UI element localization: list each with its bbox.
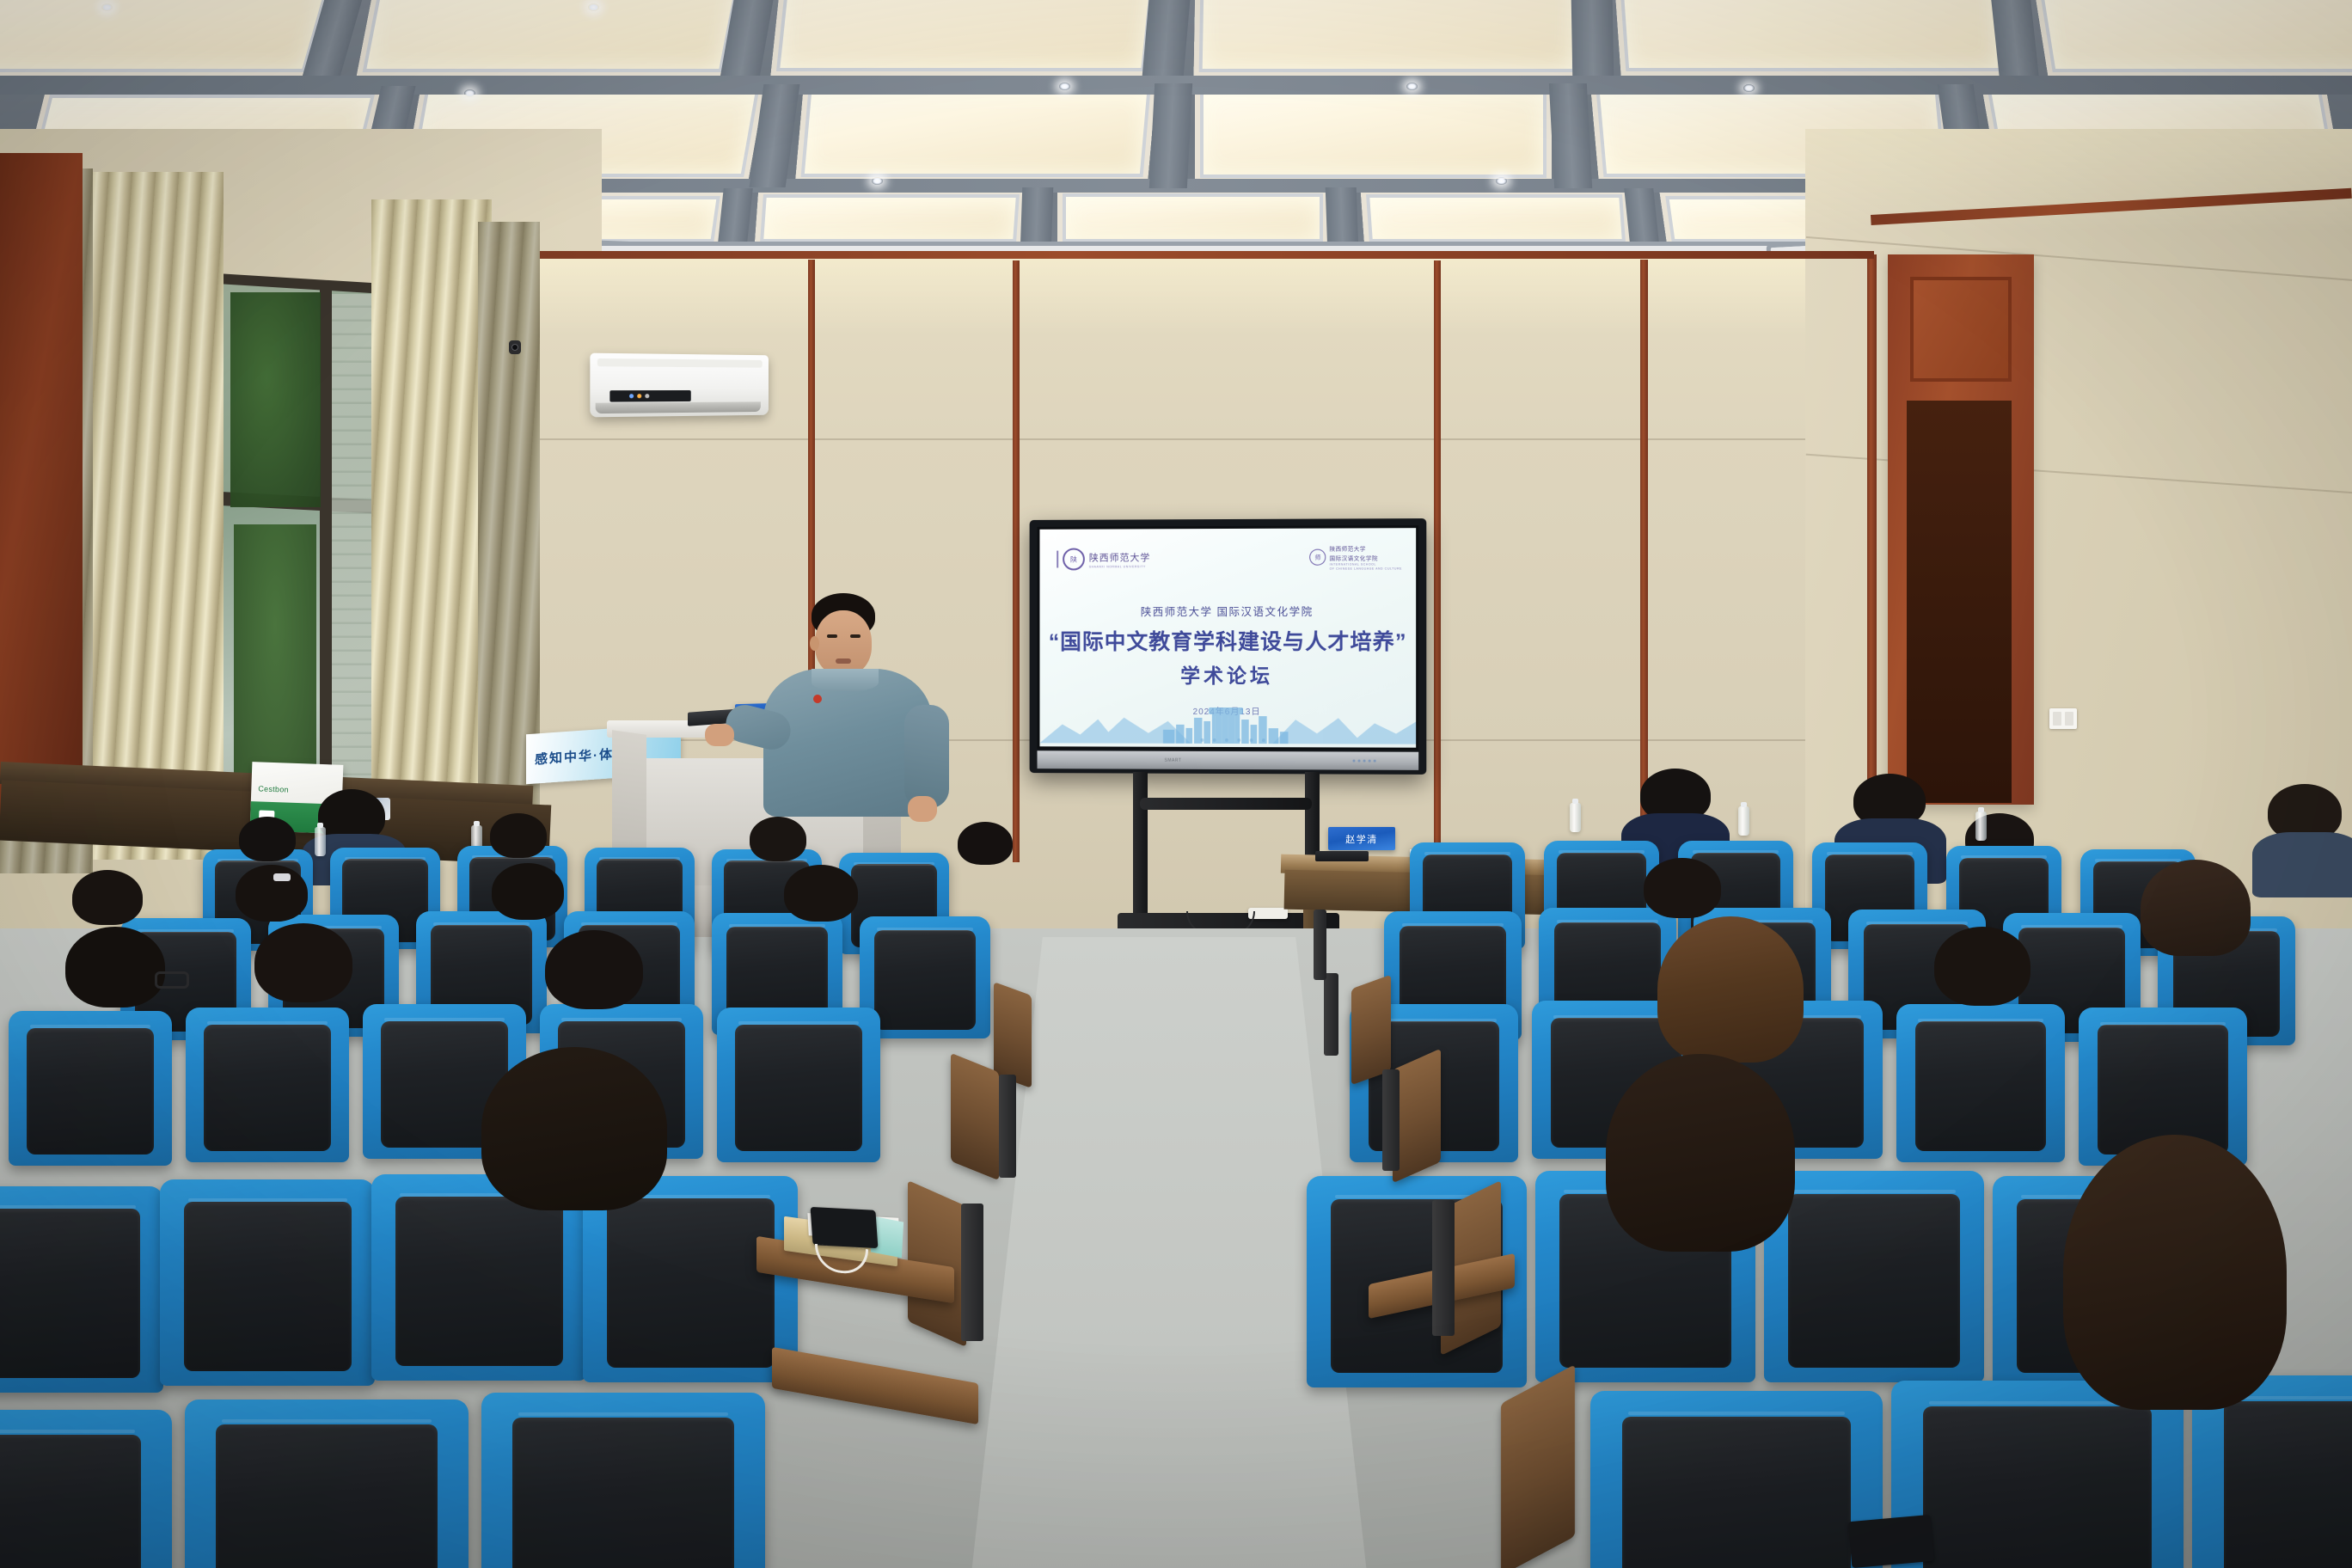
seat-leg [1324, 973, 1338, 1056]
slide-title: “国际中文教育学科建设与人才培养” [1039, 625, 1416, 656]
logo-right-name-en-1: INTERNATIONAL SCHOOL [1330, 562, 1402, 566]
speaker-right-arm [904, 705, 949, 808]
display-brand-label: SMART [1165, 757, 1182, 763]
logo-left-name-en: SHAANXI NORMAL UNIVERSITY [1089, 565, 1150, 568]
speaker-head [815, 610, 872, 676]
ceiling-downlight [464, 89, 475, 97]
speaker-collar [812, 669, 879, 691]
doorway-opening[interactable] [1907, 401, 2012, 803]
auditorium-seat[interactable] [185, 1400, 469, 1568]
audience-person [2252, 784, 2352, 896]
audience-person [53, 927, 194, 1040]
tablet-on-head-table [1315, 851, 1369, 861]
audience-person [481, 1047, 667, 1202]
auditorium-seat[interactable] [717, 1008, 880, 1162]
smartphone-on-seat[interactable] [1848, 1515, 1934, 1568]
audience-person [951, 822, 1030, 885]
head-table-nameplate-text: 赵学清 [1345, 832, 1378, 846]
slide-subtitle: 学术论坛 [1039, 659, 1416, 689]
school-logo-right: 师 陕西师范大学 国际汉语文化学院 INTERNATIONAL SCHOOL O… [1309, 543, 1402, 570]
audience-person [533, 930, 671, 1042]
seat-armrest [1393, 1049, 1441, 1184]
head-table-nameplate: 赵学清 [1328, 827, 1395, 850]
display-indicator-lights [1352, 760, 1375, 763]
slide-decoration-mountains-icon [1039, 699, 1416, 744]
light-switch[interactable] [2049, 708, 2077, 729]
seat-leg [961, 1204, 983, 1341]
auditorium-seat[interactable] [1590, 1391, 1883, 1568]
presentation-display[interactable]: 陕 陕西师范大学 SHAANXI NORMAL UNIVERSITY 师 陕西师… [1030, 518, 1427, 775]
curtain-left [86, 172, 224, 860]
auditorium-seat[interactable] [1764, 1171, 1984, 1382]
water-bottle [1975, 812, 1987, 841]
speaker-eye [827, 634, 837, 638]
ceiling-downlight [1406, 83, 1418, 90]
display-model-label [1266, 758, 1268, 763]
school-seal-icon: 师 [1309, 549, 1326, 566]
speaker-right-hand [908, 796, 937, 822]
speaker-ear [810, 636, 819, 651]
ceiling-downlight [872, 177, 883, 185]
slide-organization: 陕西师范大学 国际汉语文化学院 [1039, 603, 1416, 619]
logo-right-name-en-2: OF CHINESE LANGUAGE AND CULTURE [1330, 567, 1402, 570]
auditorium-seat[interactable] [481, 1393, 765, 1568]
speaker-left-hand [705, 724, 734, 746]
ceiling-downlight [1059, 83, 1070, 90]
ceiling-downlight [101, 3, 113, 11]
seat-armrest [951, 1053, 999, 1181]
water-carton-brand: Cestbon [258, 784, 289, 793]
audience-person [1657, 916, 1804, 1054]
lapel-microphone-icon [813, 695, 822, 703]
water-bottle [1738, 806, 1749, 836]
ceiling-downlight [1496, 177, 1507, 185]
audience-person [1922, 927, 2060, 1038]
display-port-label [1079, 757, 1081, 763]
security-camera [509, 340, 521, 354]
speaker-eye [850, 634, 861, 638]
university-logo-left: 陕 陕西师范大学 SHAANXI NORMAL UNIVERSITY [1057, 548, 1150, 570]
auditorium-seat[interactable] [0, 1186, 163, 1393]
seat-leg [999, 1075, 1016, 1178]
seat-leg [1432, 1200, 1455, 1336]
speaker-mouth [836, 658, 851, 664]
auditorium-seat[interactable] [0, 1410, 172, 1568]
presentation-slide: 陕 陕西师范大学 SHAANXI NORMAL UNIVERSITY 师 陕西师… [1039, 528, 1416, 748]
logo-right-name-cn-1: 陕西师范大学 [1330, 543, 1402, 552]
water-bottle [315, 827, 326, 856]
audience-person [242, 923, 380, 1035]
display-stand-shelf [1140, 798, 1312, 810]
audience-person [1606, 1054, 1795, 1243]
seat-leg [1314, 910, 1326, 980]
auditorium-seat[interactable] [160, 1179, 375, 1386]
door-transom-panel [1910, 277, 2012, 382]
eyeglasses-icon [155, 971, 189, 989]
logo-left-name-cn: 陕西师范大学 [1089, 550, 1150, 564]
university-seal-icon: 陕 [1063, 548, 1085, 571]
audience-person [2141, 860, 2251, 946]
air-conditioner [590, 353, 769, 418]
display-chin-bar: SMART [1038, 750, 1419, 770]
audience-person [774, 865, 880, 946]
logo-right-name-cn-2: 国际汉语文化学院 [1330, 553, 1402, 561]
curtain-middle [371, 199, 492, 853]
water-bottle [1570, 803, 1581, 832]
left-wall-dark-column [0, 153, 83, 824]
smartphone-on-desk[interactable] [811, 1207, 879, 1248]
ceiling-downlight [588, 3, 599, 11]
ceiling-downlight [1743, 84, 1755, 92]
seat-leg [1382, 1069, 1400, 1171]
lecture-hall-photo: 陕 陕西师范大学 SHAANXI NORMAL UNIVERSITY 师 陕西师… [0, 0, 2352, 1568]
audience-person [2063, 1135, 2287, 1393]
speaker-at-podium [762, 593, 935, 817]
seat-armrest [994, 982, 1032, 1088]
audience-long-hair [1657, 916, 1804, 1063]
hair-clip-icon [273, 873, 291, 881]
